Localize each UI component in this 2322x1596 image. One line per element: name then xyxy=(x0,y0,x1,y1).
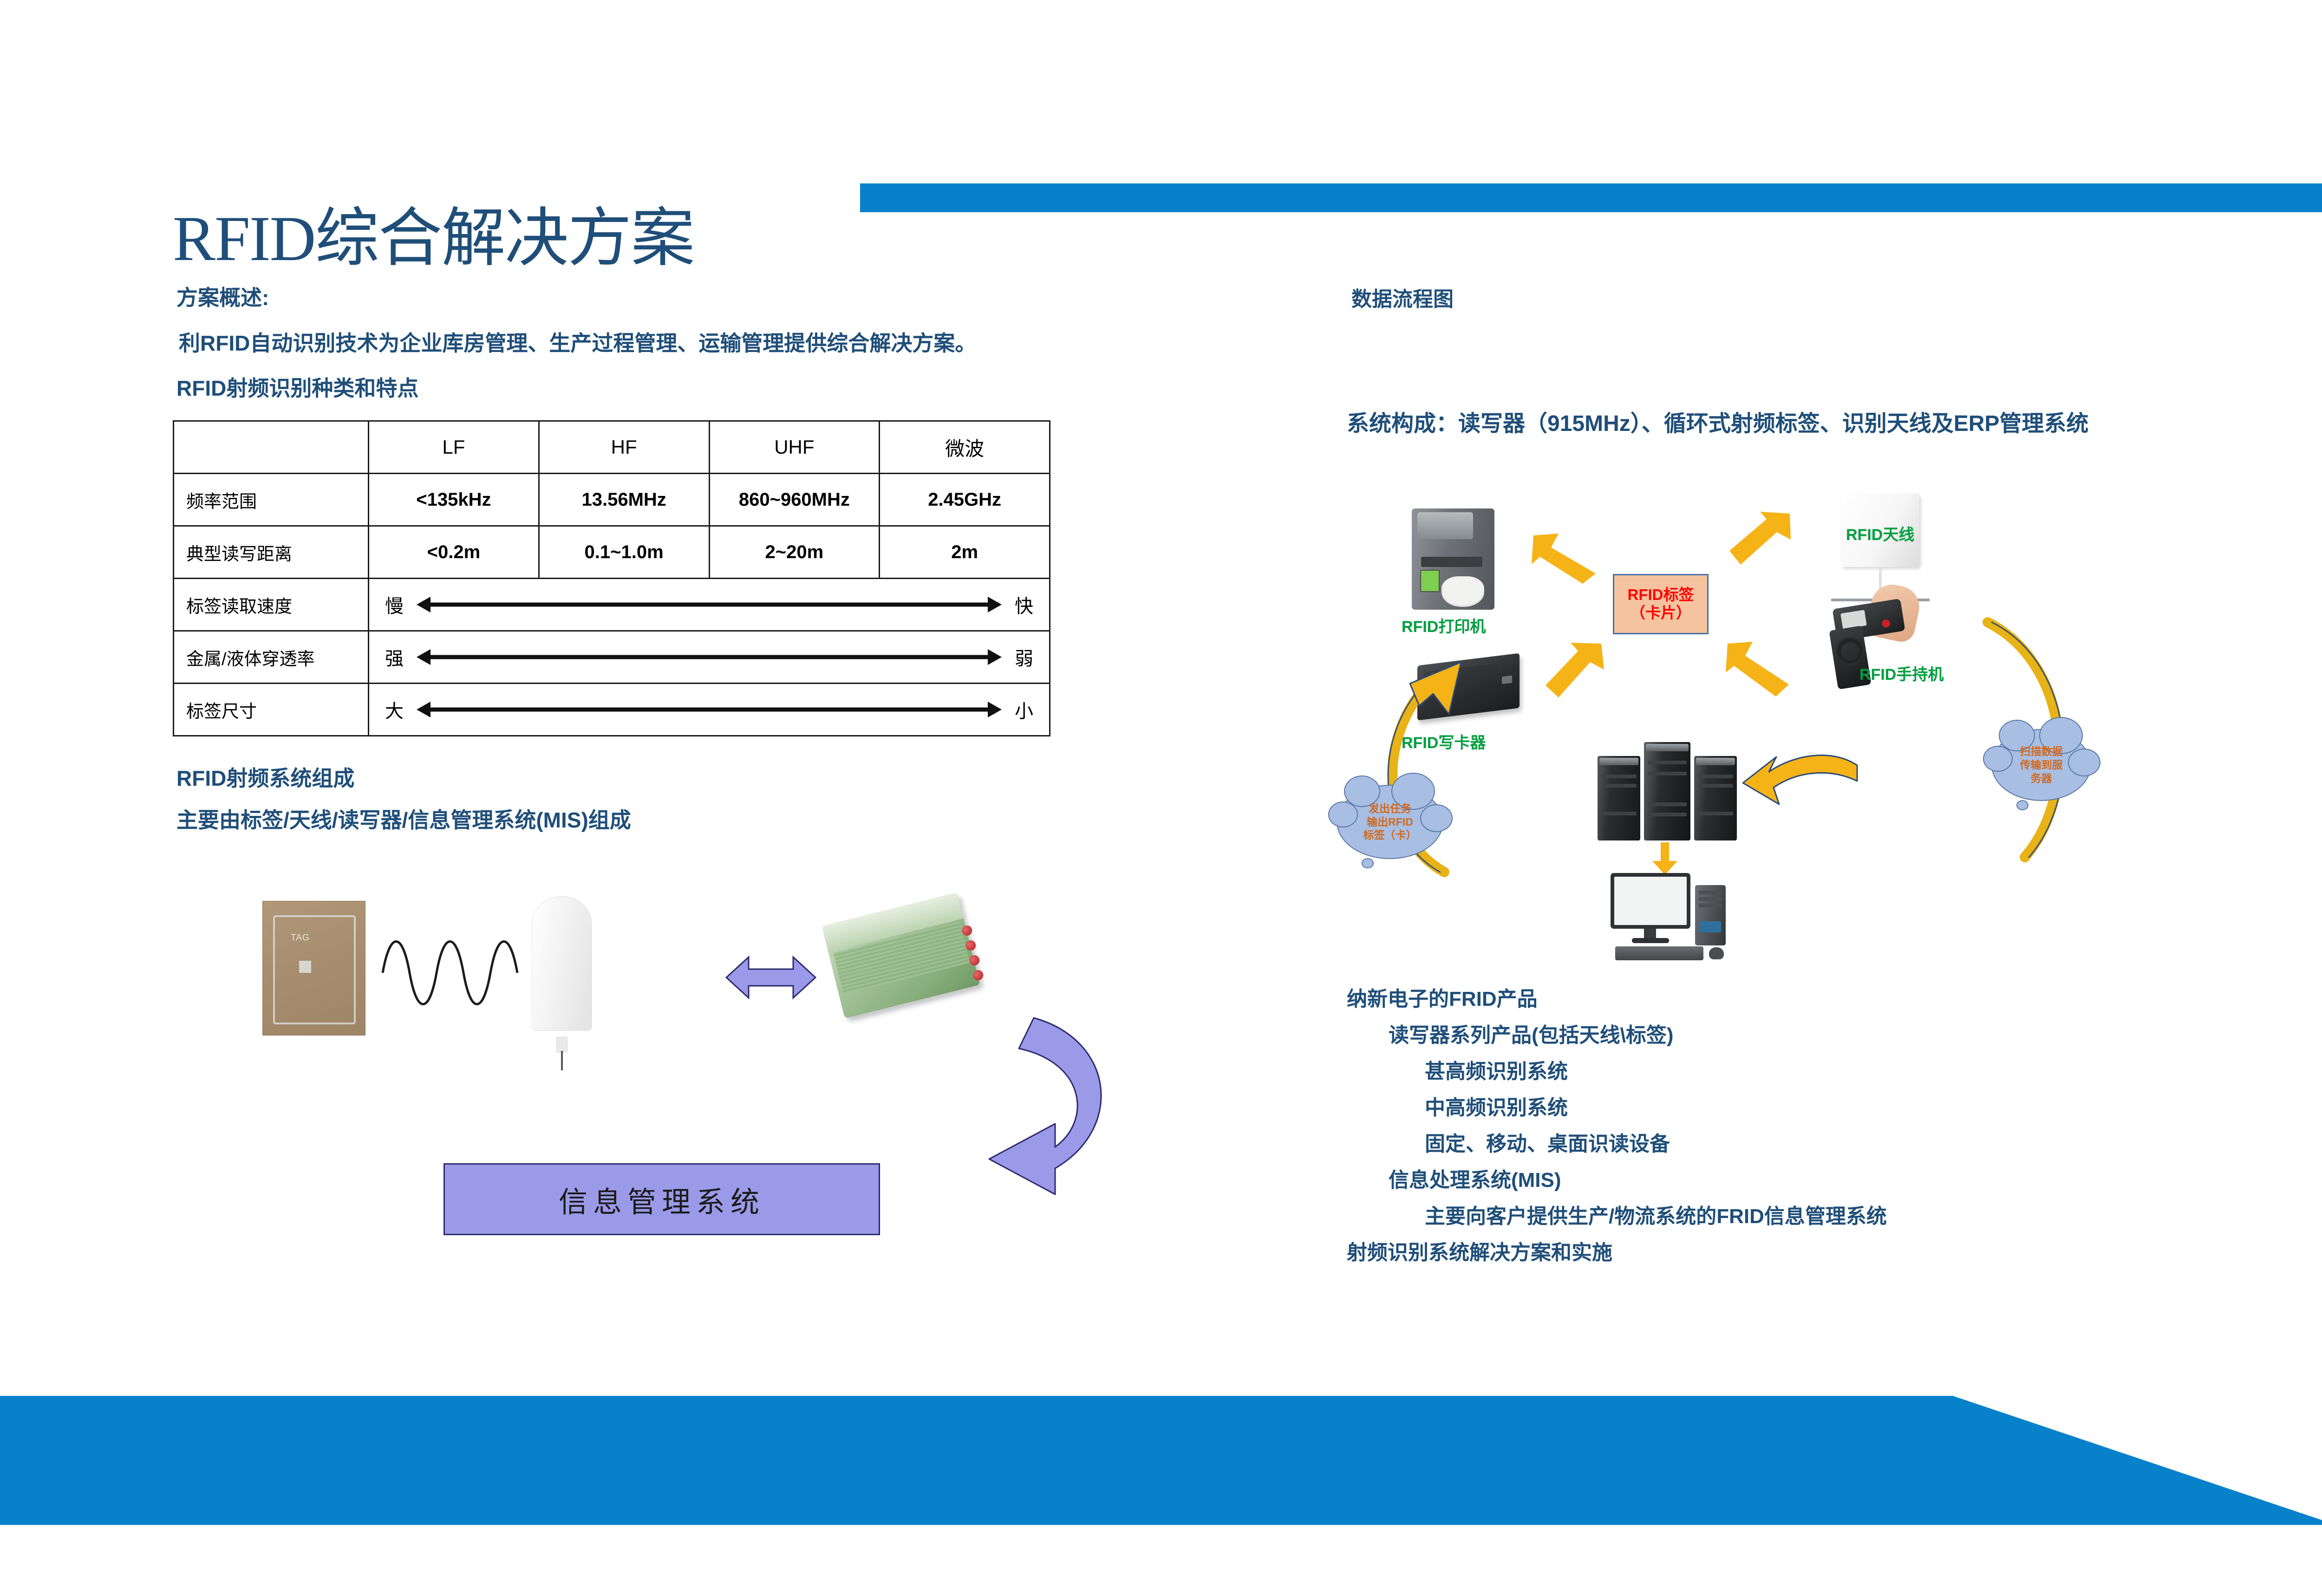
mis-box: 信息管理系统 xyxy=(444,1163,880,1235)
bidirectional-arrow-icon xyxy=(724,950,817,1005)
double-arrow-icon xyxy=(417,649,1002,665)
arrow-tag-to-handheld-icon xyxy=(1724,642,1791,700)
row-label-tag-size: 标签尺寸 xyxy=(174,684,369,736)
compose-text: 主要由标签/天线/读写器/信息管理系统(MIS)组成 xyxy=(176,803,631,834)
double-arrow-icon xyxy=(417,702,1002,717)
cell-frequency-hf: 13.56MHz xyxy=(539,474,709,526)
double-arrow-icon xyxy=(417,597,1002,612)
arrow-to-server-icon xyxy=(1739,748,1860,822)
rfid-tag-photo: TAG xyxy=(262,901,365,1036)
cell-distance-mw: 2m xyxy=(880,526,1050,579)
list-item: 主要向客户提供生产/物流系统的FRID信息管理系统 xyxy=(1425,1199,1887,1229)
table-row: 金属/液体穿透率 强 弱 xyxy=(174,631,1050,684)
cloud-left-line-2: 输出RFID xyxy=(1367,816,1413,828)
compose-heading: RFID射频系统组成 xyxy=(176,762,354,792)
list-item: 中高频识别系统 xyxy=(1425,1091,1887,1120)
table-col-header-mw: 微波 xyxy=(880,421,1050,474)
list-item: 信息处理系统(MIS) xyxy=(1389,1163,1887,1193)
rfid-antenna-label: RFID天线 xyxy=(1846,522,1914,545)
cloud-left-line-1: 发出任务 xyxy=(1369,802,1411,814)
table-col-header-lf: LF xyxy=(369,421,539,474)
row-label-distance: 典型读写距离 xyxy=(174,526,369,579)
scale-left-read-speed: 慢 xyxy=(385,591,404,618)
down-arrow-icon xyxy=(1651,842,1678,876)
overview-text: 利RFID自动识别技术为企业库房管理、生产过程管理、运输管理提供综合解决方案。 xyxy=(179,326,976,357)
server-rack-image xyxy=(1598,739,1737,840)
scale-right-penetration: 弱 xyxy=(1015,644,1033,671)
cell-tag-size-scale: 大 小 xyxy=(369,684,1050,736)
list-item: 甚高频识别系统 xyxy=(1425,1055,1887,1084)
list-item: 读写器系列产品(包括天线\标签) xyxy=(1389,1018,1887,1048)
cell-frequency-mw: 2.45GHz xyxy=(880,474,1050,526)
page-title: RFID综合解决方案 xyxy=(173,186,694,279)
list-item: 纳新电子的FRID产品 xyxy=(1347,982,1887,1012)
sysconf-heading: 系统构成：读写器（915MHz）、循环式射频标签、识别天线及ERP管理系统 xyxy=(1347,405,2088,437)
header-accent-bar xyxy=(860,183,2322,212)
cell-penetration-scale: 强 弱 xyxy=(369,631,1050,684)
scale-right-read-speed: 快 xyxy=(1015,591,1033,618)
scale-left-penetration: 强 xyxy=(385,644,404,671)
scale-right-tag-size: 小 xyxy=(1015,696,1033,723)
list-item: 固定、移动、桌面识读设备 xyxy=(1425,1127,1887,1157)
arrow-printer-to-tag-icon xyxy=(1531,532,1600,585)
row-label-frequency: 频率范围 xyxy=(174,474,369,526)
table-header-row: LF HF UHF 微波 xyxy=(174,421,1050,474)
cell-distance-hf: 0.1~1.0m xyxy=(539,526,709,579)
arrow-tag-to-antenna-icon xyxy=(1723,511,1793,567)
product-list: 纳新电子的FRID产品 读写器系列产品(包括天线\标签) 甚高频识别系统 中高频… xyxy=(1347,982,1887,1272)
table-col-header-uhf: UHF xyxy=(709,421,880,474)
cell-frequency-uhf: 860~960MHz xyxy=(709,474,880,526)
cloud-right-line-3: 务器 xyxy=(2031,772,2052,784)
table-row: 典型读写距离 <0.2m 0.1~1.0m 2~20m 2m xyxy=(174,526,1050,579)
cell-distance-lf: <0.2m xyxy=(369,526,539,579)
row-label-penetration: 金属/液体穿透率 xyxy=(174,631,369,684)
table-col-header-hf: HF xyxy=(539,421,709,474)
table-row: 标签读取速度 慢 快 xyxy=(174,579,1050,631)
rfid-tag-center-box: RFID标签 （卡片） xyxy=(1613,574,1709,634)
rf-wave-icon xyxy=(381,931,520,1015)
table-corner-cell xyxy=(174,421,369,474)
desktop-computer-image xyxy=(1611,873,1732,961)
rfid-antenna-photo xyxy=(532,896,592,1031)
curved-flow-arrow-icon xyxy=(920,1012,1133,1207)
dataflow-heading: 数据流程图 xyxy=(1351,282,1454,312)
rfid-tag-line-2: （卡片） xyxy=(1630,604,1691,622)
rfid-tag-line-1: RFID标签 xyxy=(1628,586,1694,604)
types-heading: RFID射频识别种类和特点 xyxy=(176,371,418,402)
mis-box-label: 信息管理系统 xyxy=(559,1179,765,1220)
cloud-right-line-1: 扫描数据 xyxy=(2020,745,2063,757)
table-row: 频率范围 <135kHz 13.56MHz 860~960MHz 2.45GHz xyxy=(174,474,1050,526)
overview-label: 方案概述: xyxy=(176,281,269,312)
rfid-spec-table: LF HF UHF 微波 频率范围 <135kHz 13.56MHz 860~9… xyxy=(173,420,1050,736)
cloud-left: 发出任务 输出RFID 标签（卡） xyxy=(1337,785,1443,859)
rfid-reader-photo xyxy=(822,892,980,1018)
cell-read-speed-scale: 慢 快 xyxy=(369,579,1050,631)
cell-distance-uhf: 2~20m xyxy=(709,526,880,579)
cell-frequency-lf: <135kHz xyxy=(369,474,539,526)
cloud-left-line-3: 标签（卡） xyxy=(1363,829,1417,841)
scale-left-tag-size: 大 xyxy=(385,696,404,723)
cloud-right-line-2: 传输到服 xyxy=(2020,759,2063,771)
footer-accent-shape xyxy=(0,1396,2322,1525)
cloud-right: 扫描数据 传输到服 务器 xyxy=(1991,729,2091,801)
list-item: 射频识别系统解决方案和实施 xyxy=(1347,1236,1887,1265)
slide-canvas: RFID综合解决方案 方案概述: 利RFID自动识别技术为企业库房管理、生产过程… xyxy=(0,0,2322,1596)
rfid-printer-image xyxy=(1412,508,1494,610)
row-label-read-speed: 标签读取速度 xyxy=(174,579,369,631)
table-row: 标签尺寸 大 小 xyxy=(174,684,1050,736)
